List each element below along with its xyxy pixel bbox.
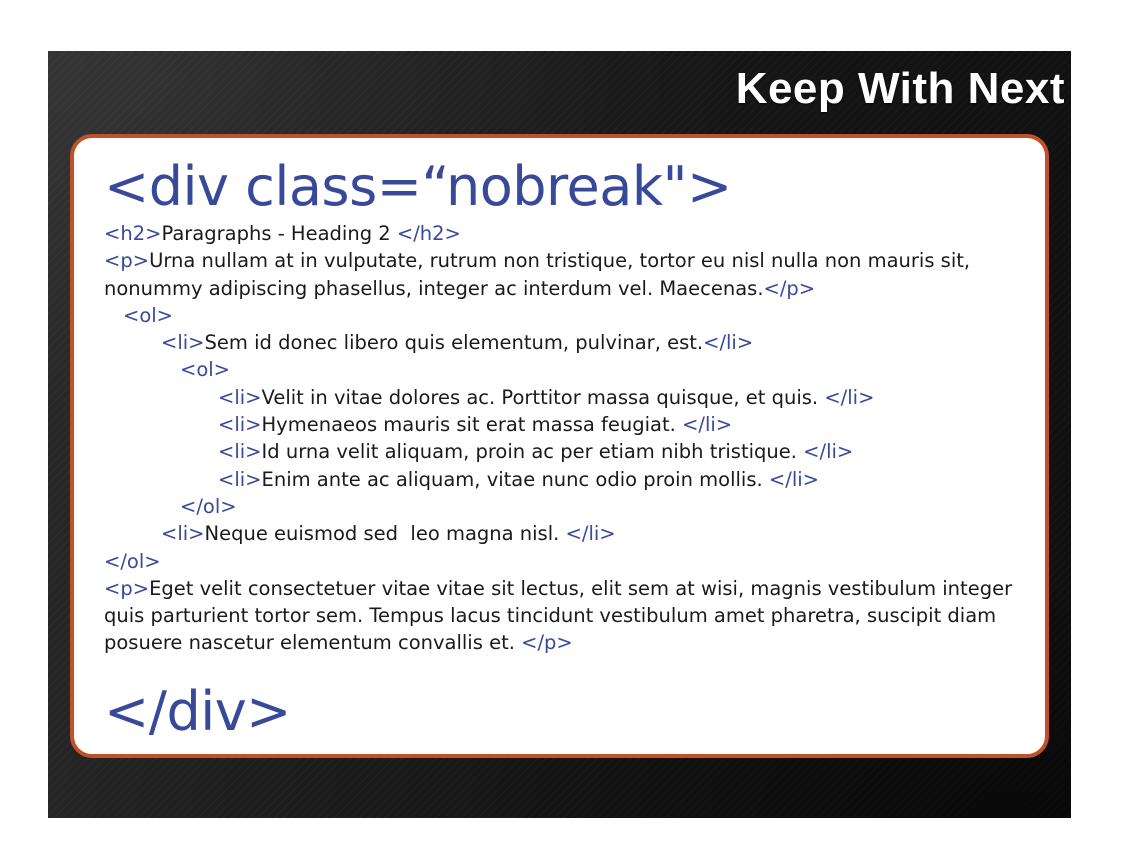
code-open-tag: <li> (218, 413, 262, 436)
code-open-tag: <p> (104, 249, 149, 272)
code-close-tag: </p> (521, 631, 573, 654)
code-line: <ol> (104, 356, 1037, 383)
code-open-tag: <li> (161, 331, 205, 354)
page-title: Keep With Next (85, 66, 1065, 112)
code-close-tag: </li> (824, 386, 874, 409)
code-line: <li>Enim ante ac aliquam, vitae nunc odi… (104, 466, 1037, 493)
code-line-div-open: <div class=“nobreak"> (104, 156, 1037, 218)
code-text: Paragraphs - Heading 2 (161, 222, 396, 245)
code-open-tag: </ol> (104, 550, 161, 573)
code-text: Id urna velit aliquam, proin ac per etia… (262, 440, 804, 463)
code-lines-container: <h2>Paragraphs - Heading 2 </h2><p>Urna … (104, 220, 1037, 657)
code-open-tag: <li> (161, 522, 205, 545)
code-line: <ol> (104, 302, 1037, 329)
code-text: Hymenaeos mauris sit erat massa feugiat. (262, 413, 683, 436)
code-close-tag: </li> (769, 468, 819, 491)
code-close-tag: </p> (764, 277, 816, 300)
code-close-tag: </li> (566, 522, 616, 545)
code-line: <li>Sem id donec libero quis elementum, … (104, 329, 1037, 356)
code-open-tag: </ol> (180, 495, 237, 518)
code-line: </ol> (104, 493, 1037, 520)
code-line: <p>Eget velit consectetuer vitae vitae s… (104, 575, 1037, 657)
code-text: Urna nullam at in vulputate, rutrum non … (104, 249, 970, 299)
code-text: Velit in vitae dolores ac. Porttitor mas… (262, 386, 825, 409)
code-open-tag: <ol> (123, 304, 173, 327)
code-open-tag: <ol> (180, 358, 230, 381)
code-close-tag: </h2> (397, 222, 461, 245)
code-line: <li>Velit in vitae dolores ac. Porttitor… (104, 384, 1037, 411)
code-text: Enim ante ac aliquam, vitae nunc odio pr… (262, 468, 769, 491)
code-open-tag: <p> (104, 577, 149, 600)
code-open-tag: <li> (218, 386, 262, 409)
code-line: <li>Neque euismod sed leo magna nisl. </… (104, 520, 1037, 547)
code-open-tag: <h2> (104, 222, 161, 245)
code-line: <p>Urna nullam at in vulputate, rutrum n… (104, 247, 1037, 302)
code-line: <li>Id urna velit aliquam, proin ac per … (104, 438, 1037, 465)
slide-frame: Keep With Next <div class=“nobreak"> <h2… (48, 51, 1071, 818)
code-open-tag: <li> (218, 440, 262, 463)
code-close-tag: </li> (803, 440, 853, 463)
code-open-tag: <li> (218, 468, 262, 491)
content-card: <div class=“nobreak"> <h2>Paragraphs - H… (70, 134, 1049, 758)
code-line: <li>Hymenaeos mauris sit erat massa feug… (104, 411, 1037, 438)
code-line: <h2>Paragraphs - Heading 2 </h2> (104, 220, 1037, 247)
code-line-div-close: </div> (104, 681, 1037, 743)
code-listing: <div class=“nobreak"> <h2>Paragraphs - H… (104, 144, 1037, 743)
code-close-tag: </li> (682, 413, 732, 436)
code-line: </ol> (104, 548, 1037, 575)
code-text: Neque euismod sed leo magna nisl. (205, 522, 566, 545)
code-close-tag: </li> (703, 331, 753, 354)
code-text: Sem id donec libero quis elementum, pulv… (205, 331, 704, 354)
